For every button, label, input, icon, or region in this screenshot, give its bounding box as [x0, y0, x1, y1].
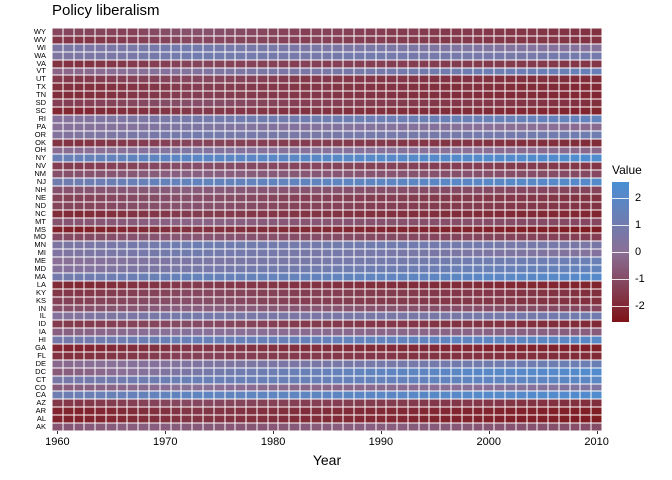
heatmap-cell [203, 210, 214, 218]
heatmap-cell [591, 312, 602, 320]
heatmap-cell [63, 305, 74, 313]
heatmap-cell [548, 257, 559, 265]
heatmap-cell [322, 249, 333, 257]
heatmap-cell [580, 423, 591, 431]
heatmap-cell [494, 28, 505, 36]
heatmap-cell [408, 265, 419, 273]
heatmap-cell [214, 154, 225, 162]
heatmap-cell [570, 60, 581, 68]
heatmap-cell [181, 305, 192, 313]
heatmap-cell [376, 28, 387, 36]
heatmap-cell [84, 415, 95, 423]
heatmap-cell [63, 60, 74, 68]
heatmap-cell [483, 320, 494, 328]
heatmap-cell [106, 360, 117, 368]
legend: Value 210-1-2 [612, 163, 672, 322]
heatmap-cell [365, 407, 376, 415]
heatmap-cell [117, 99, 128, 107]
heatmap-cell [451, 305, 462, 313]
heatmap-cell [192, 376, 203, 384]
heatmap-cell [462, 312, 473, 320]
heatmap-cell [580, 273, 591, 281]
heatmap-cell [300, 281, 311, 289]
heatmap-cell [52, 44, 63, 52]
heatmap-cell [311, 360, 322, 368]
heatmap-cell [181, 162, 192, 170]
heatmap-cell [160, 368, 171, 376]
heatmap-cell [181, 99, 192, 107]
heatmap-cell [332, 241, 343, 249]
heatmap-cell [160, 297, 171, 305]
heatmap-cell [257, 391, 268, 399]
heatmap-cell [483, 202, 494, 210]
legend-tick-mark [612, 198, 629, 199]
heatmap-cell [192, 399, 203, 407]
heatmap-cell [246, 186, 257, 194]
heatmap-cell [386, 257, 397, 265]
heatmap-cell [440, 391, 451, 399]
heatmap-cell [516, 36, 527, 44]
heatmap-cell [300, 210, 311, 218]
heatmap-cell [332, 415, 343, 423]
heatmap-cell [473, 139, 484, 147]
heatmap-cell [440, 218, 451, 226]
heatmap-cell [354, 328, 365, 336]
heatmap-cell [181, 368, 192, 376]
heatmap-cell [127, 170, 138, 178]
heatmap-cell [570, 75, 581, 83]
heatmap-cell [181, 407, 192, 415]
heatmap-cell [246, 376, 257, 384]
heatmap-cell [181, 75, 192, 83]
heatmap-cell [181, 360, 192, 368]
heatmap-cell [365, 423, 376, 431]
heatmap-cell [235, 147, 246, 155]
heatmap-cell [322, 36, 333, 44]
heatmap-cell [246, 233, 257, 241]
heatmap-cell [516, 328, 527, 336]
heatmap-cell [235, 210, 246, 218]
heatmap-cell [192, 312, 203, 320]
heatmap-cell [548, 226, 559, 234]
heatmap-cell [127, 415, 138, 423]
heatmap-cell [235, 202, 246, 210]
heatmap-cell [429, 328, 440, 336]
heatmap-cell [570, 36, 581, 44]
heatmap-cell [440, 352, 451, 360]
heatmap-cell [181, 423, 192, 431]
heatmap-cell [451, 257, 462, 265]
heatmap-cell [559, 281, 570, 289]
heatmap-cell [289, 75, 300, 83]
heatmap-cell [138, 336, 149, 344]
heatmap-cell [268, 52, 279, 60]
heatmap-cell [214, 312, 225, 320]
heatmap-cell [117, 91, 128, 99]
heatmap-cell [462, 360, 473, 368]
heatmap-cell [278, 297, 289, 305]
heatmap-cell [257, 289, 268, 297]
heatmap-cell [354, 68, 365, 76]
heatmap-cell [505, 320, 516, 328]
heatmap-cell [462, 107, 473, 115]
heatmap-cell [343, 265, 354, 273]
heatmap-cell [160, 154, 171, 162]
heatmap-cell [311, 241, 322, 249]
heatmap-cell [225, 226, 236, 234]
heatmap-cell [257, 44, 268, 52]
heatmap-cell [332, 257, 343, 265]
heatmap-cell [268, 162, 279, 170]
heatmap-cell [203, 352, 214, 360]
heatmap-cell [225, 36, 236, 44]
heatmap-cell [580, 68, 591, 76]
heatmap-cell [84, 320, 95, 328]
heatmap-cell [462, 83, 473, 91]
heatmap-cell [52, 376, 63, 384]
heatmap-cell [117, 415, 128, 423]
heatmap-cell [149, 273, 160, 281]
heatmap-cell [225, 328, 236, 336]
heatmap-cell [419, 44, 430, 52]
heatmap-cell [548, 423, 559, 431]
heatmap-cell [494, 218, 505, 226]
heatmap-cell [419, 281, 430, 289]
heatmap-cell [462, 131, 473, 139]
heatmap-cell [74, 320, 85, 328]
heatmap-cell [52, 75, 63, 83]
heatmap-cell [483, 241, 494, 249]
heatmap-cell [483, 139, 494, 147]
heatmap-cell [149, 99, 160, 107]
heatmap-cell [289, 289, 300, 297]
heatmap-cell [225, 391, 236, 399]
heatmap-cell [365, 154, 376, 162]
heatmap-cell [386, 162, 397, 170]
heatmap-cell [203, 265, 214, 273]
heatmap-cell [192, 68, 203, 76]
heatmap-cell [84, 423, 95, 431]
heatmap-cell [63, 376, 74, 384]
heatmap-cell [74, 423, 85, 431]
heatmap-cell [440, 257, 451, 265]
heatmap-cell [192, 107, 203, 115]
heatmap-cell [192, 162, 203, 170]
heatmap-cell [473, 320, 484, 328]
heatmap-cell [300, 52, 311, 60]
heatmap-cell [171, 257, 182, 265]
heatmap-cell [52, 178, 63, 186]
heatmap-cell [278, 170, 289, 178]
heatmap-cell [462, 415, 473, 423]
heatmap-cell [516, 368, 527, 376]
heatmap-cell [138, 344, 149, 352]
heatmap-cell [537, 218, 548, 226]
heatmap-cell [354, 257, 365, 265]
heatmap-cell [386, 115, 397, 123]
heatmap-cell [591, 368, 602, 376]
heatmap-cell [95, 281, 106, 289]
heatmap-cell [171, 210, 182, 218]
heatmap-cell [235, 91, 246, 99]
heatmap-cell [548, 154, 559, 162]
heatmap-cell [451, 60, 462, 68]
heatmap-cell [278, 305, 289, 313]
heatmap-cell [106, 210, 117, 218]
heatmap-cell [181, 115, 192, 123]
heatmap-cell [181, 210, 192, 218]
heatmap-cell [527, 115, 538, 123]
heatmap-cell [548, 60, 559, 68]
heatmap-cell [171, 218, 182, 226]
heatmap-cell [591, 139, 602, 147]
heatmap-cell [376, 123, 387, 131]
heatmap-cell [225, 154, 236, 162]
heatmap-cell [106, 28, 117, 36]
heatmap-cell [246, 423, 257, 431]
legend-tick-mark [612, 306, 629, 307]
heatmap-cell [192, 384, 203, 392]
heatmap-cell [257, 360, 268, 368]
heatmap-cell [483, 391, 494, 399]
heatmap-cell [300, 36, 311, 44]
heatmap-cell [203, 407, 214, 415]
heatmap-cell [311, 297, 322, 305]
heatmap-cell [429, 289, 440, 297]
heatmap-cell [214, 289, 225, 297]
heatmap-cell [235, 186, 246, 194]
heatmap-cell [192, 336, 203, 344]
heatmap-cell [559, 115, 570, 123]
heatmap-cell [171, 139, 182, 147]
heatmap-cell [462, 44, 473, 52]
heatmap-cell [278, 91, 289, 99]
heatmap-cell [192, 36, 203, 44]
heatmap-cell [52, 147, 63, 155]
heatmap-cell [74, 178, 85, 186]
heatmap-cell [268, 194, 279, 202]
heatmap-cell [591, 75, 602, 83]
heatmap-cell [171, 75, 182, 83]
heatmap-cell [527, 139, 538, 147]
heatmap-cell [160, 312, 171, 320]
heatmap-cell [95, 52, 106, 60]
heatmap-cell [322, 415, 333, 423]
heatmap-cell [322, 265, 333, 273]
heatmap-cell [548, 36, 559, 44]
heatmap-cell [408, 423, 419, 431]
heatmap-cell [235, 107, 246, 115]
heatmap-cell [289, 312, 300, 320]
heatmap-cell [95, 139, 106, 147]
heatmap-cell [127, 328, 138, 336]
heatmap-cell [527, 131, 538, 139]
heatmap-cell [311, 154, 322, 162]
heatmap-cell [516, 281, 527, 289]
heatmap-cell [462, 336, 473, 344]
heatmap-cell [127, 384, 138, 392]
heatmap-cell [365, 226, 376, 234]
heatmap-cell [343, 423, 354, 431]
heatmap-cell [214, 91, 225, 99]
heatmap-cell [537, 399, 548, 407]
heatmap-cell [527, 241, 538, 249]
heatmap-cell [149, 178, 160, 186]
heatmap-cell [580, 368, 591, 376]
y-axis: WYWVWIWAVAVTUTTXTNSDSCRIPAOROKOHNYNVNMNJ… [0, 28, 50, 431]
heatmap-cell [311, 391, 322, 399]
heatmap-cell [462, 186, 473, 194]
heatmap-cell [527, 91, 538, 99]
heatmap-cell [386, 305, 397, 313]
heatmap-cell [343, 289, 354, 297]
heatmap-cell [376, 368, 387, 376]
heatmap-cell [311, 83, 322, 91]
heatmap-cell [343, 226, 354, 234]
heatmap-cell [246, 99, 257, 107]
heatmap-cell [84, 210, 95, 218]
heatmap-cell [181, 194, 192, 202]
heatmap-cell [203, 68, 214, 76]
heatmap-cell [386, 226, 397, 234]
heatmap-cell [268, 28, 279, 36]
heatmap-cell [343, 407, 354, 415]
heatmap-cell [160, 336, 171, 344]
heatmap-cell [505, 368, 516, 376]
heatmap-cell [451, 115, 462, 123]
heatmap-cell [365, 107, 376, 115]
heatmap-cell [451, 399, 462, 407]
heatmap-cell [127, 36, 138, 44]
heatmap-cell [559, 289, 570, 297]
heatmap-cell [225, 320, 236, 328]
heatmap-cell [494, 170, 505, 178]
heatmap-cell [149, 423, 160, 431]
heatmap-cell [117, 312, 128, 320]
heatmap-cell [354, 139, 365, 147]
page-title: Policy liberalism [52, 2, 160, 19]
heatmap-cell [268, 344, 279, 352]
heatmap-cell [300, 202, 311, 210]
heatmap-cell [300, 194, 311, 202]
heatmap-cell [127, 289, 138, 297]
heatmap-cell [138, 423, 149, 431]
heatmap-cell [473, 218, 484, 226]
heatmap-cell [235, 320, 246, 328]
heatmap-cell [127, 376, 138, 384]
heatmap-cell [483, 83, 494, 91]
heatmap-cell [63, 170, 74, 178]
heatmap-cell [332, 281, 343, 289]
heatmap-cell [214, 233, 225, 241]
heatmap-cell [376, 186, 387, 194]
heatmap-cell [203, 249, 214, 257]
heatmap-cell [570, 297, 581, 305]
heatmap-cell [440, 194, 451, 202]
x-axis-title: Year [52, 452, 602, 468]
heatmap-cell [473, 407, 484, 415]
heatmap-cell [365, 60, 376, 68]
heatmap-cell [246, 36, 257, 44]
heatmap-cell [494, 162, 505, 170]
heatmap-cell [419, 407, 430, 415]
heatmap-cell [63, 273, 74, 281]
heatmap-cell [225, 75, 236, 83]
heatmap-cell [95, 178, 106, 186]
heatmap-cell [181, 178, 192, 186]
heatmap-cell [106, 336, 117, 344]
heatmap-cell [289, 376, 300, 384]
heatmap-cell [397, 154, 408, 162]
heatmap-cell [494, 273, 505, 281]
heatmap-cell [580, 320, 591, 328]
heatmap-cell [548, 281, 559, 289]
heatmap-cell [127, 281, 138, 289]
heatmap-cell [74, 83, 85, 91]
heatmap-cell [106, 273, 117, 281]
heatmap-cell [214, 320, 225, 328]
heatmap-cell [192, 423, 203, 431]
heatmap-cell [246, 162, 257, 170]
heatmap-cell [268, 131, 279, 139]
heatmap-cell [397, 360, 408, 368]
heatmap-cell [483, 312, 494, 320]
heatmap-cell [322, 257, 333, 265]
heatmap-cell [537, 226, 548, 234]
heatmap-cell [462, 423, 473, 431]
heatmap-cell [203, 186, 214, 194]
heatmap-cell [63, 297, 74, 305]
heatmap-cell [419, 107, 430, 115]
heatmap-cell [516, 162, 527, 170]
heatmap-cell [246, 226, 257, 234]
heatmap-cell [246, 312, 257, 320]
heatmap-cell [408, 75, 419, 83]
heatmap-cell [376, 384, 387, 392]
heatmap-cell [462, 391, 473, 399]
heatmap-cell [591, 265, 602, 273]
heatmap-cell [52, 52, 63, 60]
heatmap-cell [138, 139, 149, 147]
heatmap-cell [537, 297, 548, 305]
heatmap-cell [74, 344, 85, 352]
heatmap-cell [127, 44, 138, 52]
heatmap-cell [311, 60, 322, 68]
heatmap-cell [235, 352, 246, 360]
heatmap-cell [505, 123, 516, 131]
heatmap-cell [214, 241, 225, 249]
heatmap-cell [257, 423, 268, 431]
heatmap-cell [354, 154, 365, 162]
heatmap-cell [160, 107, 171, 115]
heatmap-cell [278, 336, 289, 344]
heatmap-cell [203, 139, 214, 147]
heatmap-cell [429, 352, 440, 360]
heatmap-cell [257, 123, 268, 131]
heatmap-cell [527, 289, 538, 297]
heatmap-cell [440, 75, 451, 83]
heatmap-cell [300, 328, 311, 336]
heatmap-cell [246, 391, 257, 399]
heatmap-cell [127, 336, 138, 344]
heatmap-cell [289, 91, 300, 99]
heatmap-cell [537, 273, 548, 281]
heatmap-cell [192, 320, 203, 328]
heatmap-cell [300, 28, 311, 36]
heatmap-cell [127, 91, 138, 99]
heatmap-cell [483, 376, 494, 384]
heatmap-cell [127, 368, 138, 376]
